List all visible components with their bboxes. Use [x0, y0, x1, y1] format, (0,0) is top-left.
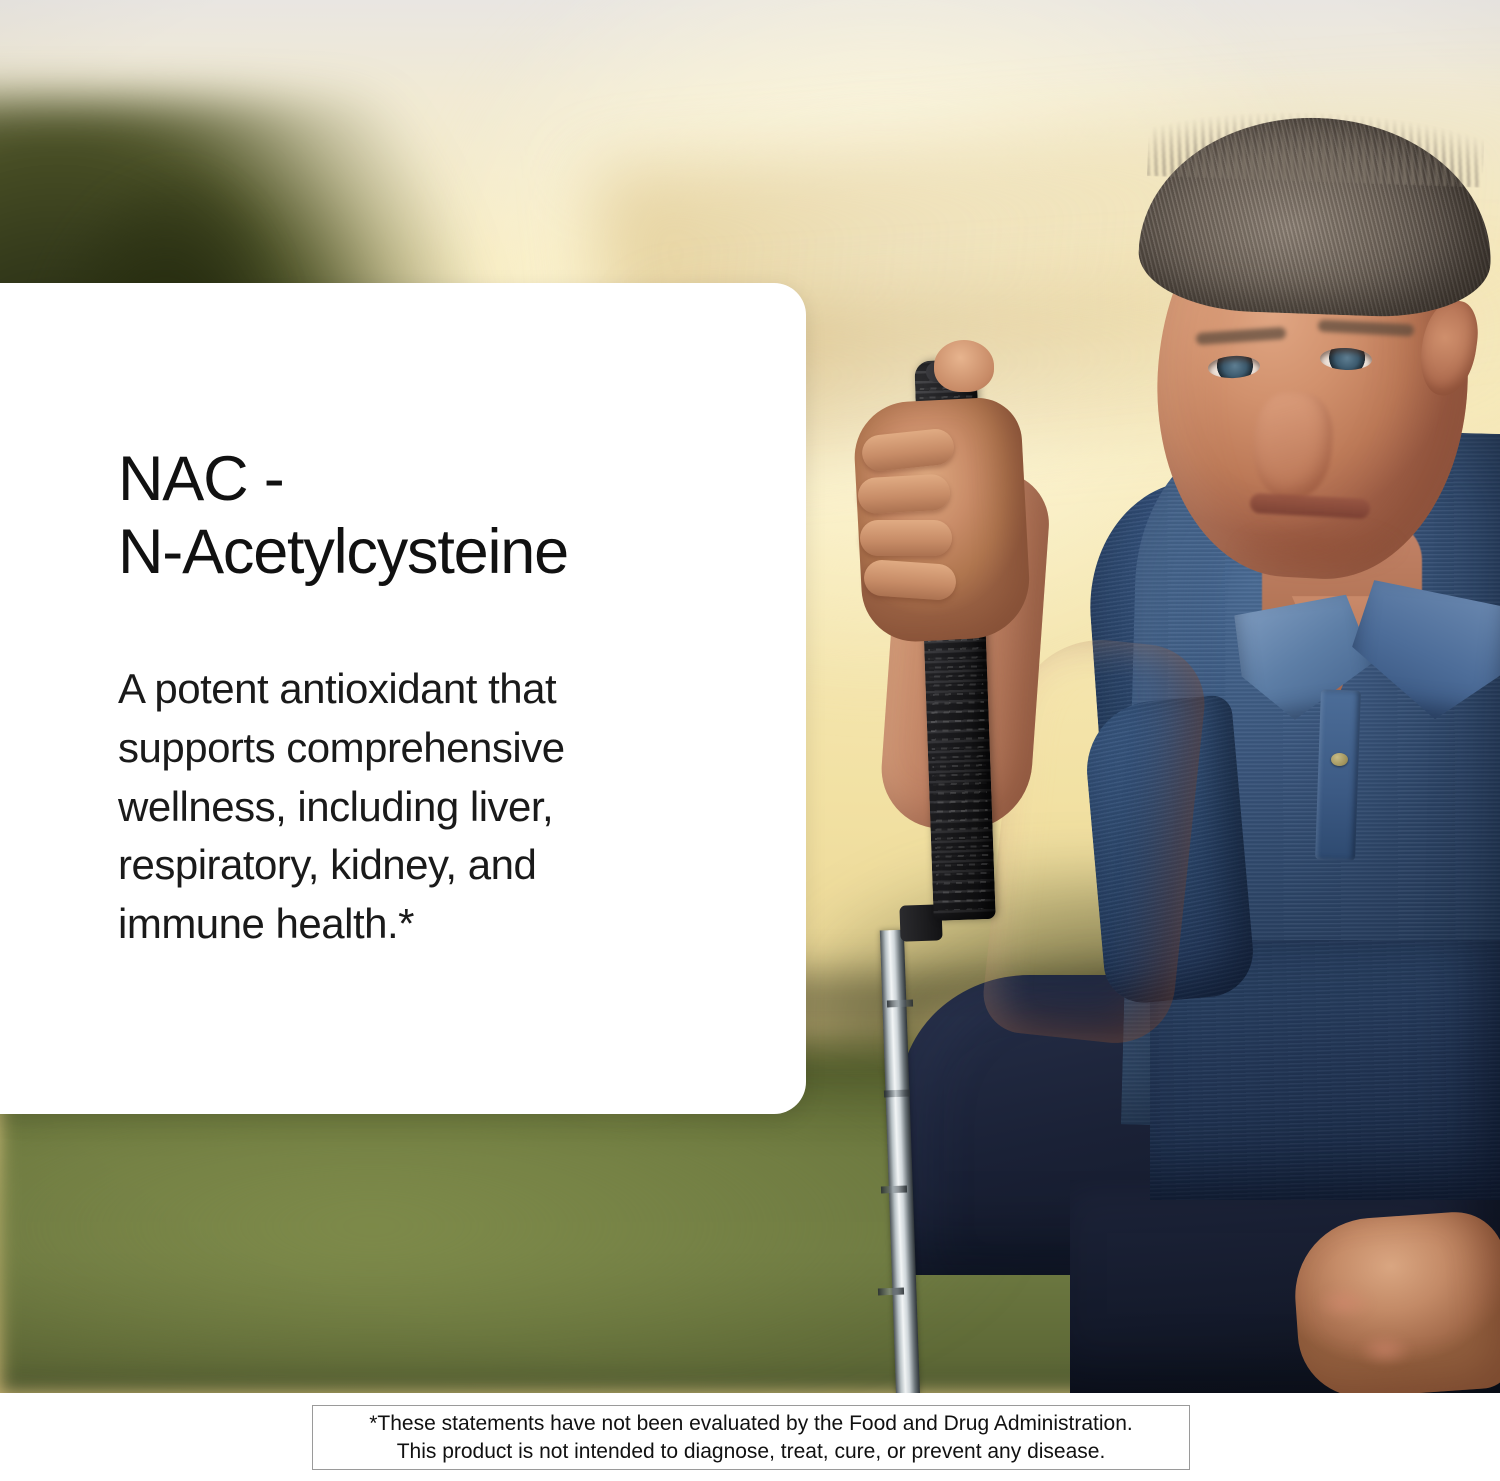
golfer-hair-spikes: [1147, 106, 1485, 188]
feature-description: A potent antioxidant that supports compr…: [118, 660, 638, 954]
shaft-step-3: [881, 1186, 907, 1194]
shaft-step-2: [884, 1090, 910, 1098]
golfer-knuckle-b: [1358, 1334, 1412, 1366]
shaft-step-1: [887, 1000, 913, 1008]
golfer-finger-middle: [857, 474, 951, 515]
golfer-finger-ring: [860, 520, 952, 556]
golfer-chin-shadow: [1230, 520, 1406, 576]
golfer-thumb: [934, 340, 994, 392]
feature-text-card: NAC - N-Acetylcysteine A potent antioxid…: [0, 283, 806, 1114]
product-feature-image: NAC - N-Acetylcysteine A potent antioxid…: [0, 0, 1500, 1481]
fda-disclaimer-line-1: *These statements have not been evaluate…: [369, 1410, 1132, 1438]
golfer-finger-pinky: [863, 559, 957, 601]
fda-disclaimer-line-2: This product is not intended to diagnose…: [397, 1438, 1106, 1466]
disclaimer-area: *These statements have not been evaluate…: [0, 1393, 1500, 1481]
feature-text-card-inner: NAC - N-Acetylcysteine A potent antioxid…: [118, 283, 746, 1114]
fda-disclaimer-box: *These statements have not been evaluate…: [312, 1405, 1190, 1470]
polo-placket: [1315, 689, 1361, 860]
shaft-step-4: [878, 1288, 904, 1296]
golfer-knuckle-a: [1316, 1286, 1372, 1320]
polo-button: [1331, 753, 1348, 766]
page-title: NAC - N-Acetylcysteine: [118, 443, 568, 589]
